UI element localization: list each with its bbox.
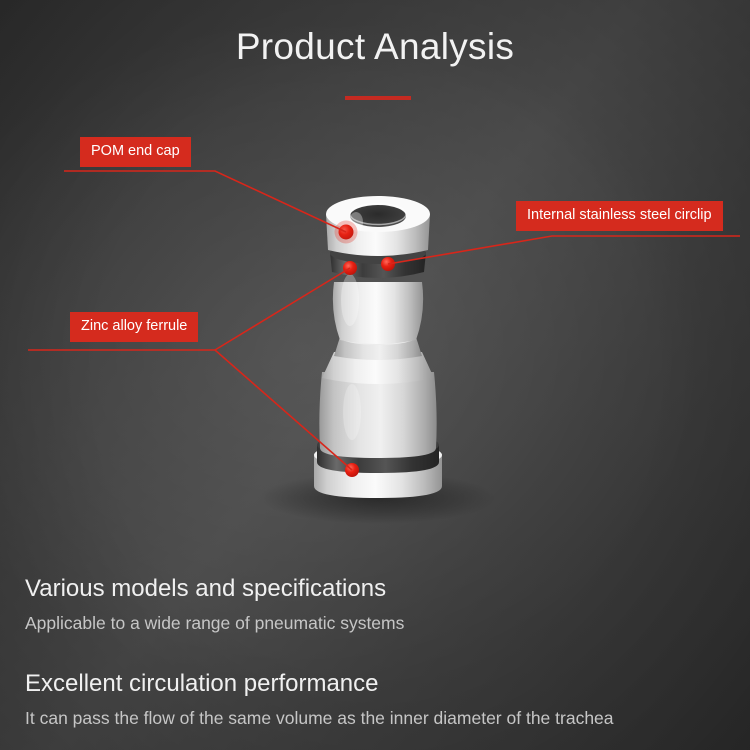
feature-heading: Excellent circulation performance bbox=[25, 672, 614, 696]
callout-zinc-alloy-ferrule[interactable]: Zinc alloy ferrule bbox=[70, 312, 198, 342]
callout-internal-stainless-steel-circlip[interactable]: Internal stainless steel circlip bbox=[516, 201, 723, 231]
callout-pom-end-cap[interactable]: POM end cap bbox=[80, 137, 191, 167]
title-underline-rule bbox=[345, 96, 411, 100]
page-title: Product Analysis bbox=[0, 26, 750, 68]
feature-heading: Various models and specifications bbox=[25, 577, 404, 601]
feature-block-models: Various models and specifications Applic… bbox=[25, 577, 404, 633]
product-photo bbox=[0, 0, 750, 750]
marker-ferrule-top bbox=[343, 261, 357, 275]
feature-block-circulation: Excellent circulation performance It can… bbox=[25, 672, 614, 728]
product-analysis-infographic: POM end cap Internal stainless steel cir… bbox=[0, 0, 750, 750]
marker-ferrule-bottom bbox=[345, 463, 359, 477]
marker-pom-end-cap-halo bbox=[335, 221, 358, 244]
feature-subtext: It can pass the flow of the same volume … bbox=[25, 710, 614, 728]
lower-body bbox=[319, 372, 436, 458]
feature-subtext: Applicable to a wide range of pneumatic … bbox=[25, 615, 404, 633]
marker-circlip bbox=[381, 257, 395, 271]
